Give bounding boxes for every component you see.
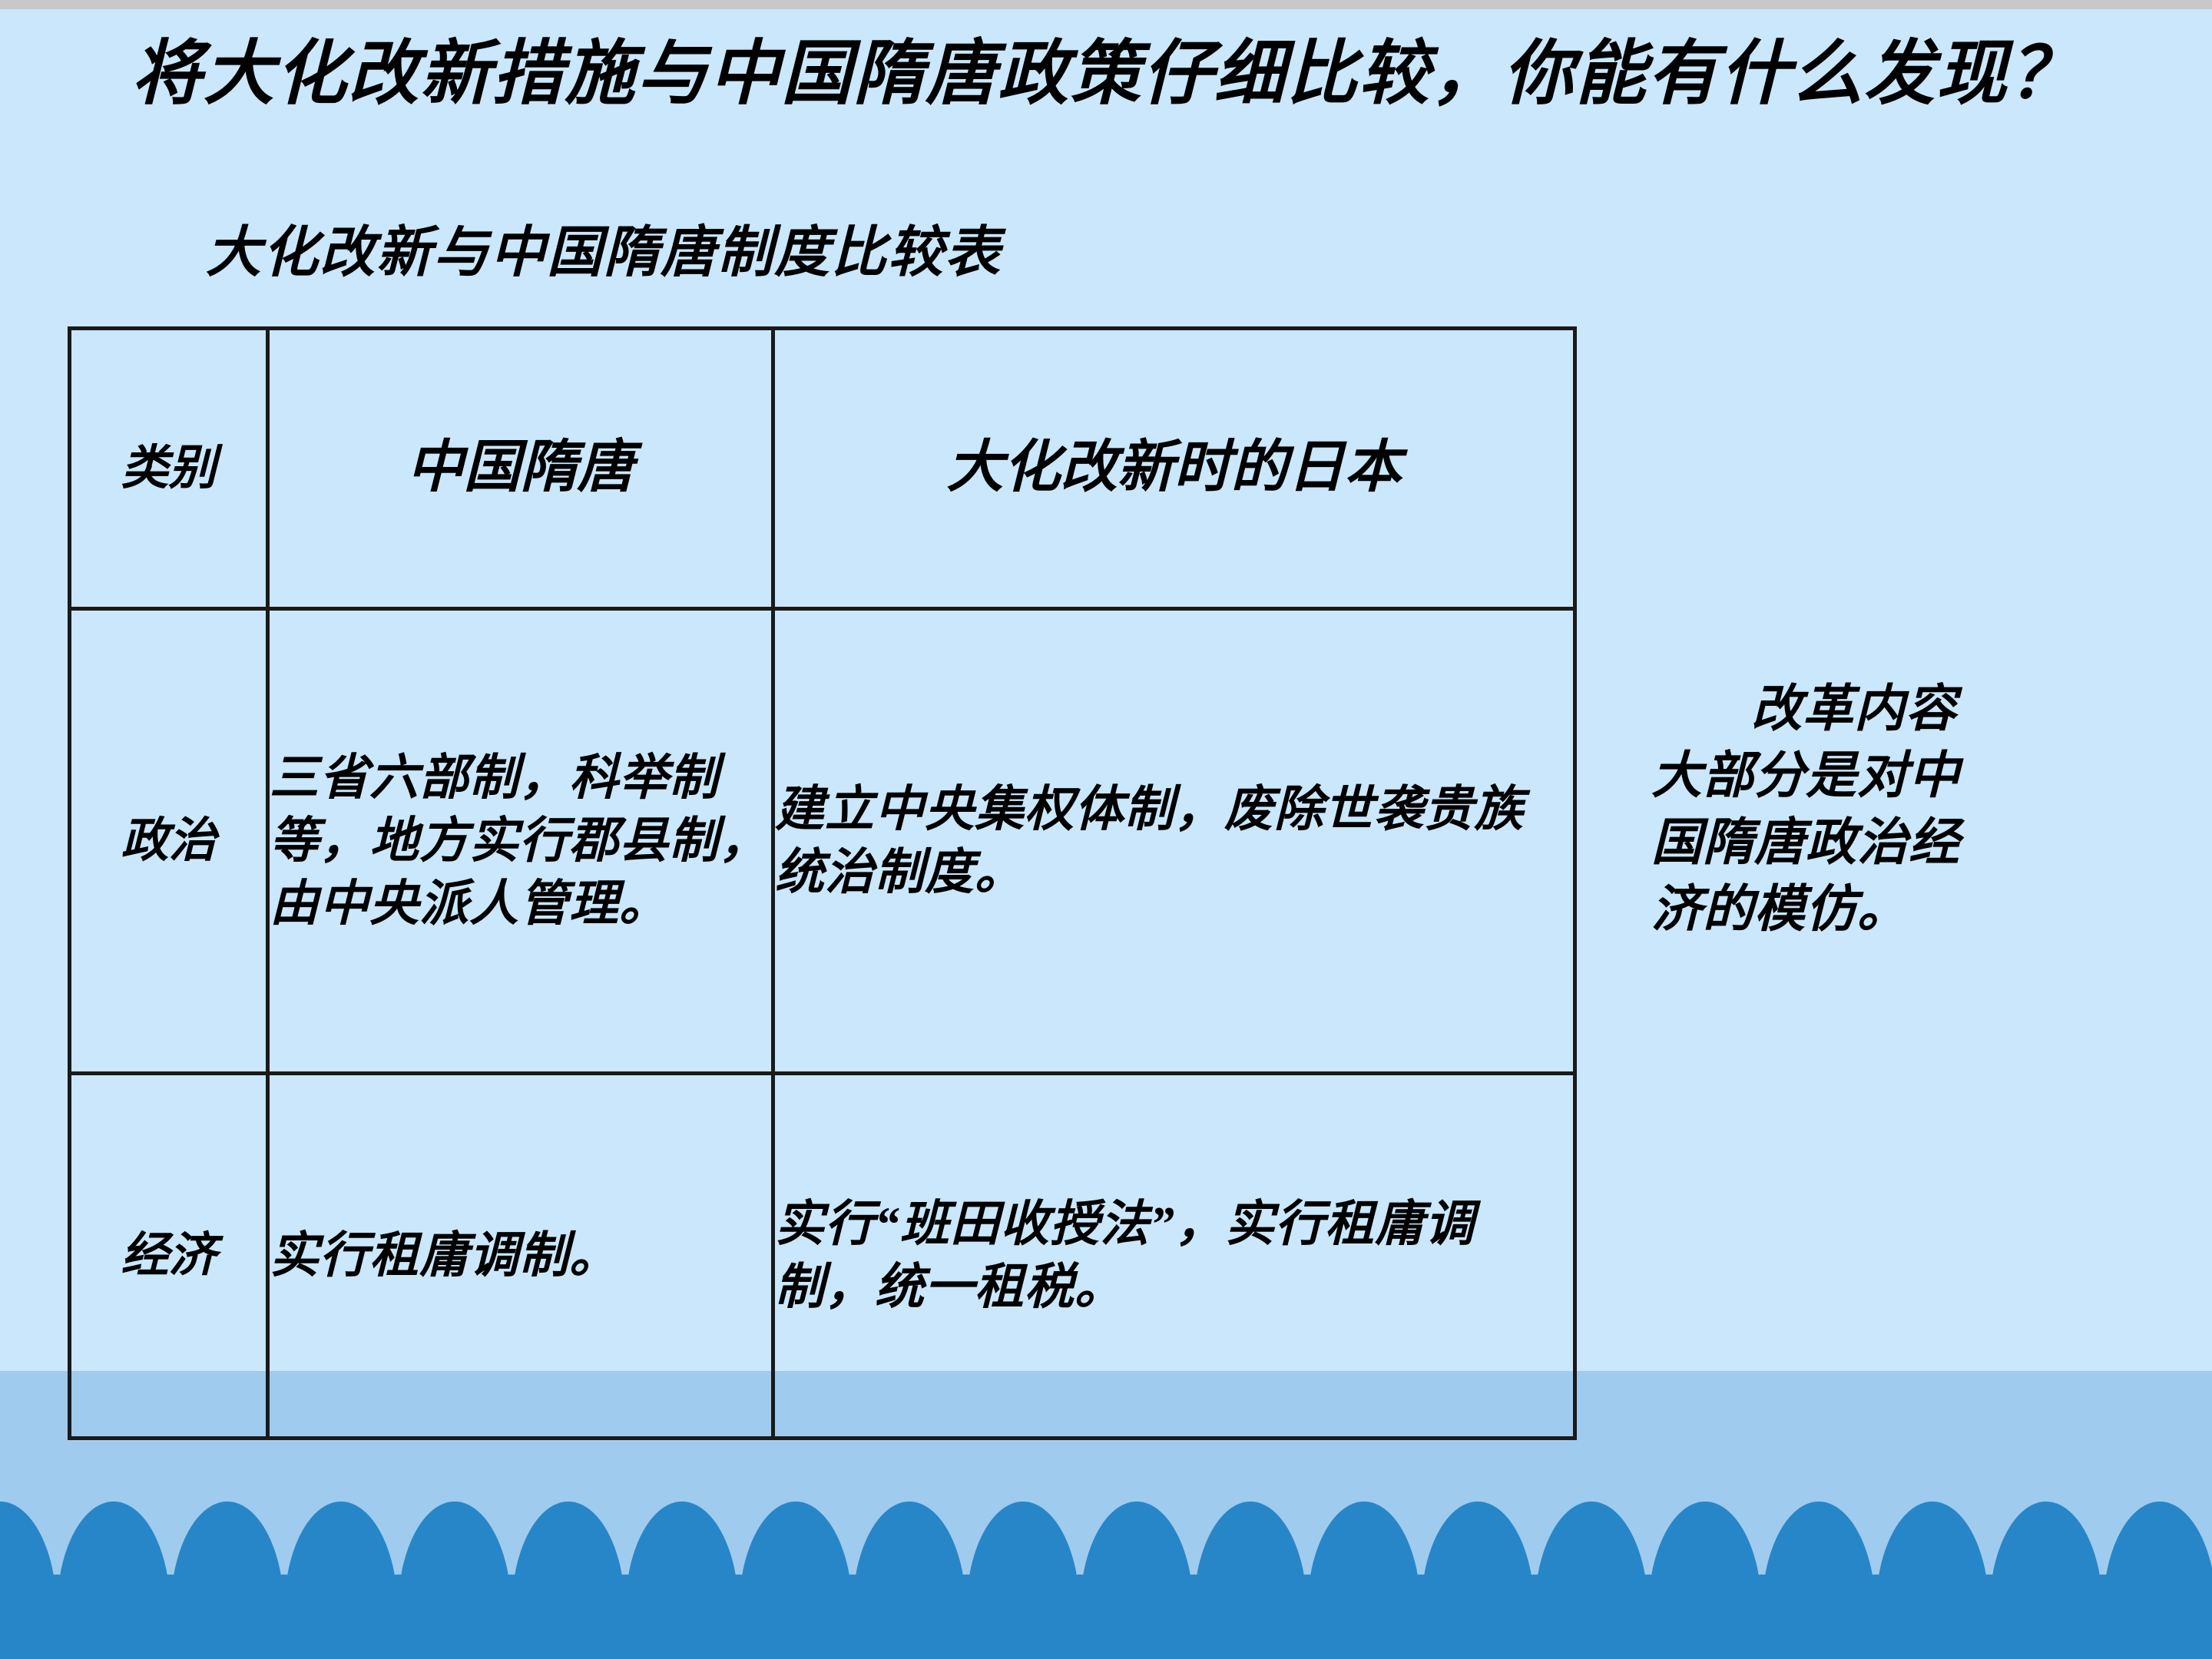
slide-canvas: 将大化改新措施与中国隋唐政策仔细比较，你能有什么发现？ 大化改新与中国隋唐制度比… [0, 0, 2212, 1659]
scallop-shape [1705, 1575, 1819, 1659]
header-cell-category: 类别 [70, 329, 268, 609]
scallop-shape [455, 1575, 568, 1659]
table-header-row: 类别 中国隋唐 大化改新时的日本 [70, 329, 1575, 609]
side-annotation: 改革内容 大部分是对中 国隋唐政治经 济的模仿。 [1651, 676, 2174, 943]
comparison-table: 类别 中国隋唐 大化改新时的日本 政治 三省六部制，科举制等，地方实行郡县制，由… [68, 326, 1577, 1440]
page-title: 将大化改新措施与中国隋唐政策仔细比较，你能有什么发现？ [0, 37, 2212, 111]
scallop-shape [227, 1575, 341, 1659]
side-annotation-line-2: 大部分是对中 [1651, 743, 2174, 810]
cell-politics-china: 三省六部制，科举制等，地方实行郡县制，由中央派人管理。 [268, 609, 773, 1074]
scallop-shape [1137, 1575, 1250, 1659]
scallop-shape [682, 1575, 796, 1659]
cell-economy-china: 实行租庸调制。 [268, 1074, 773, 1439]
scallop-shape [568, 1575, 682, 1659]
scallop-shape [2160, 1575, 2212, 1659]
scallop-shape [1932, 1575, 2046, 1659]
side-annotation-line-1: 改革内容 [1651, 676, 2174, 743]
header-cell-china: 中国隋唐 [268, 329, 773, 609]
scallop-shape [909, 1575, 1023, 1659]
scallop-shape [0, 1575, 114, 1659]
cell-politics-japan: 建立中央集权体制，废除世袭贵族统治制度。 [773, 609, 1575, 1074]
scallop-row-front [0, 1575, 2212, 1659]
header-cell-japan: 大化改新时的日本 [773, 329, 1575, 609]
scallop-shape [2046, 1575, 2160, 1659]
scallop-shape [1591, 1575, 1705, 1659]
table-row: 政治 三省六部制，科举制等，地方实行郡县制，由中央派人管理。 建立中央集权体制，… [70, 609, 1575, 1074]
side-annotation-line-4: 济的模仿。 [1651, 876, 2174, 943]
scallop-shape [1023, 1575, 1137, 1659]
scallop-shape [796, 1575, 909, 1659]
scallop-shape [1250, 1575, 1364, 1659]
top-gray-strip [0, 0, 2212, 9]
row-label-economy: 经济 [70, 1074, 268, 1439]
row-label-politics: 政治 [70, 609, 268, 1074]
scallop-shape [114, 1575, 227, 1659]
scallop-shape [1478, 1575, 1591, 1659]
scallop-shape [1364, 1575, 1478, 1659]
cell-economy-japan: 实行“班田收授法”，实行租庸调制，统一租税。 [773, 1074, 1575, 1439]
side-annotation-line-3: 国隋唐政治经 [1651, 810, 2174, 876]
table-caption: 大化改新与中国隋唐制度比较表 [206, 224, 1002, 283]
scallop-shape [1819, 1575, 1932, 1659]
scallop-shape [341, 1575, 455, 1659]
table-row: 经济 实行租庸调制。 实行“班田收授法”，实行租庸调制，统一租税。 [70, 1074, 1575, 1439]
